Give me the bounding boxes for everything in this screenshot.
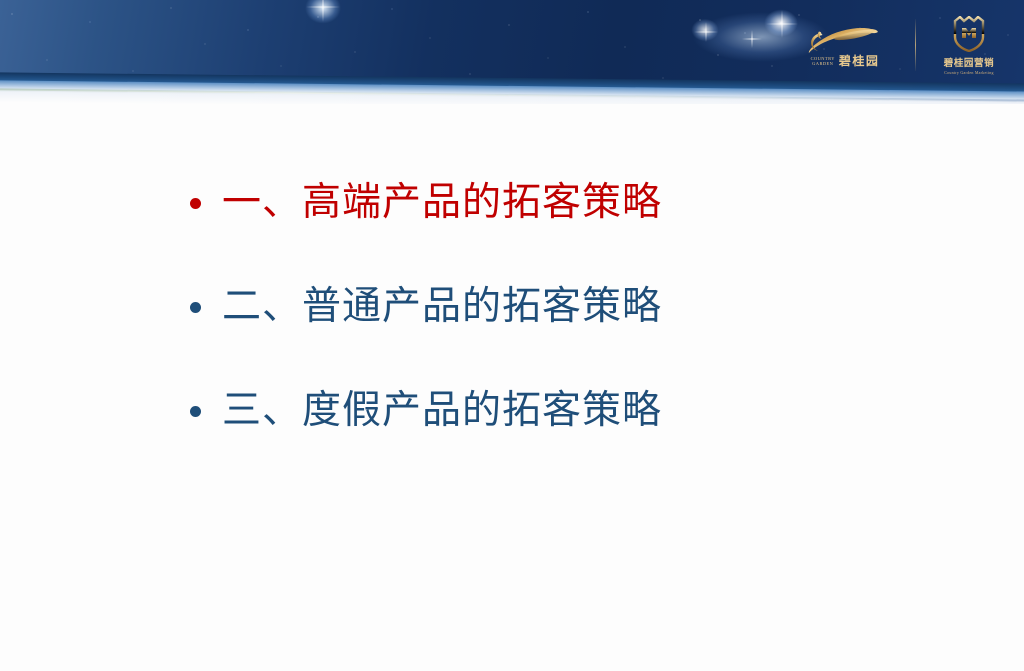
bullet-text-standard: 二、普通产品的拓客策略 [222,284,662,330]
country-garden-logo: COUNTRY GARDEN 碧桂园 [787,24,903,67]
bullet-dot-icon [190,406,201,417]
presentation-slide: COUNTRY GARDEN 碧桂园 [0,0,1024,671]
country-garden-english-text: COUNTRY GARDEN [811,56,835,66]
agenda-bullet-list: 一、高端产品的拓客策略 二、普通产品的拓客策略 三、度假产品的拓客策略 [190,180,930,492]
bullet-text-high-end: 一、高端产品的拓客策略 [222,180,662,226]
bullet-item-standard: 二、普通产品的拓客策略 [190,284,930,388]
bullet-dot-icon [190,302,201,313]
slide-content-area: 一、高端产品的拓客策略 二、普通产品的拓客策略 三、度假产品的拓客策略 [0,104,1024,671]
marketing-shield-icon [952,16,986,52]
country-garden-marketing-logo: 碧桂园营销 Country Garden Marketing [928,16,1010,75]
logo-lockup: COUNTRY GARDEN 碧桂园 [787,14,1010,76]
country-garden-wordmark: COUNTRY GARDEN 碧桂园 [811,55,880,67]
bullet-item-resort: 三、度假产品的拓客策略 [190,388,930,492]
bullet-text-resort: 三、度假产品的拓客策略 [222,388,662,434]
marketing-chinese-text: 碧桂园营销 [944,55,995,69]
country-garden-chinese-text: 碧桂园 [839,55,880,67]
logo-divider [915,19,916,71]
bullet-dot-icon [190,198,201,209]
marketing-english-text: Country Garden Marketing [944,70,994,75]
country-garden-swan-logo-icon [797,24,893,54]
slide-header-banner: COUNTRY GARDEN 碧桂园 [0,0,1024,104]
bullet-item-high-end: 一、高端产品的拓客策略 [190,180,930,284]
